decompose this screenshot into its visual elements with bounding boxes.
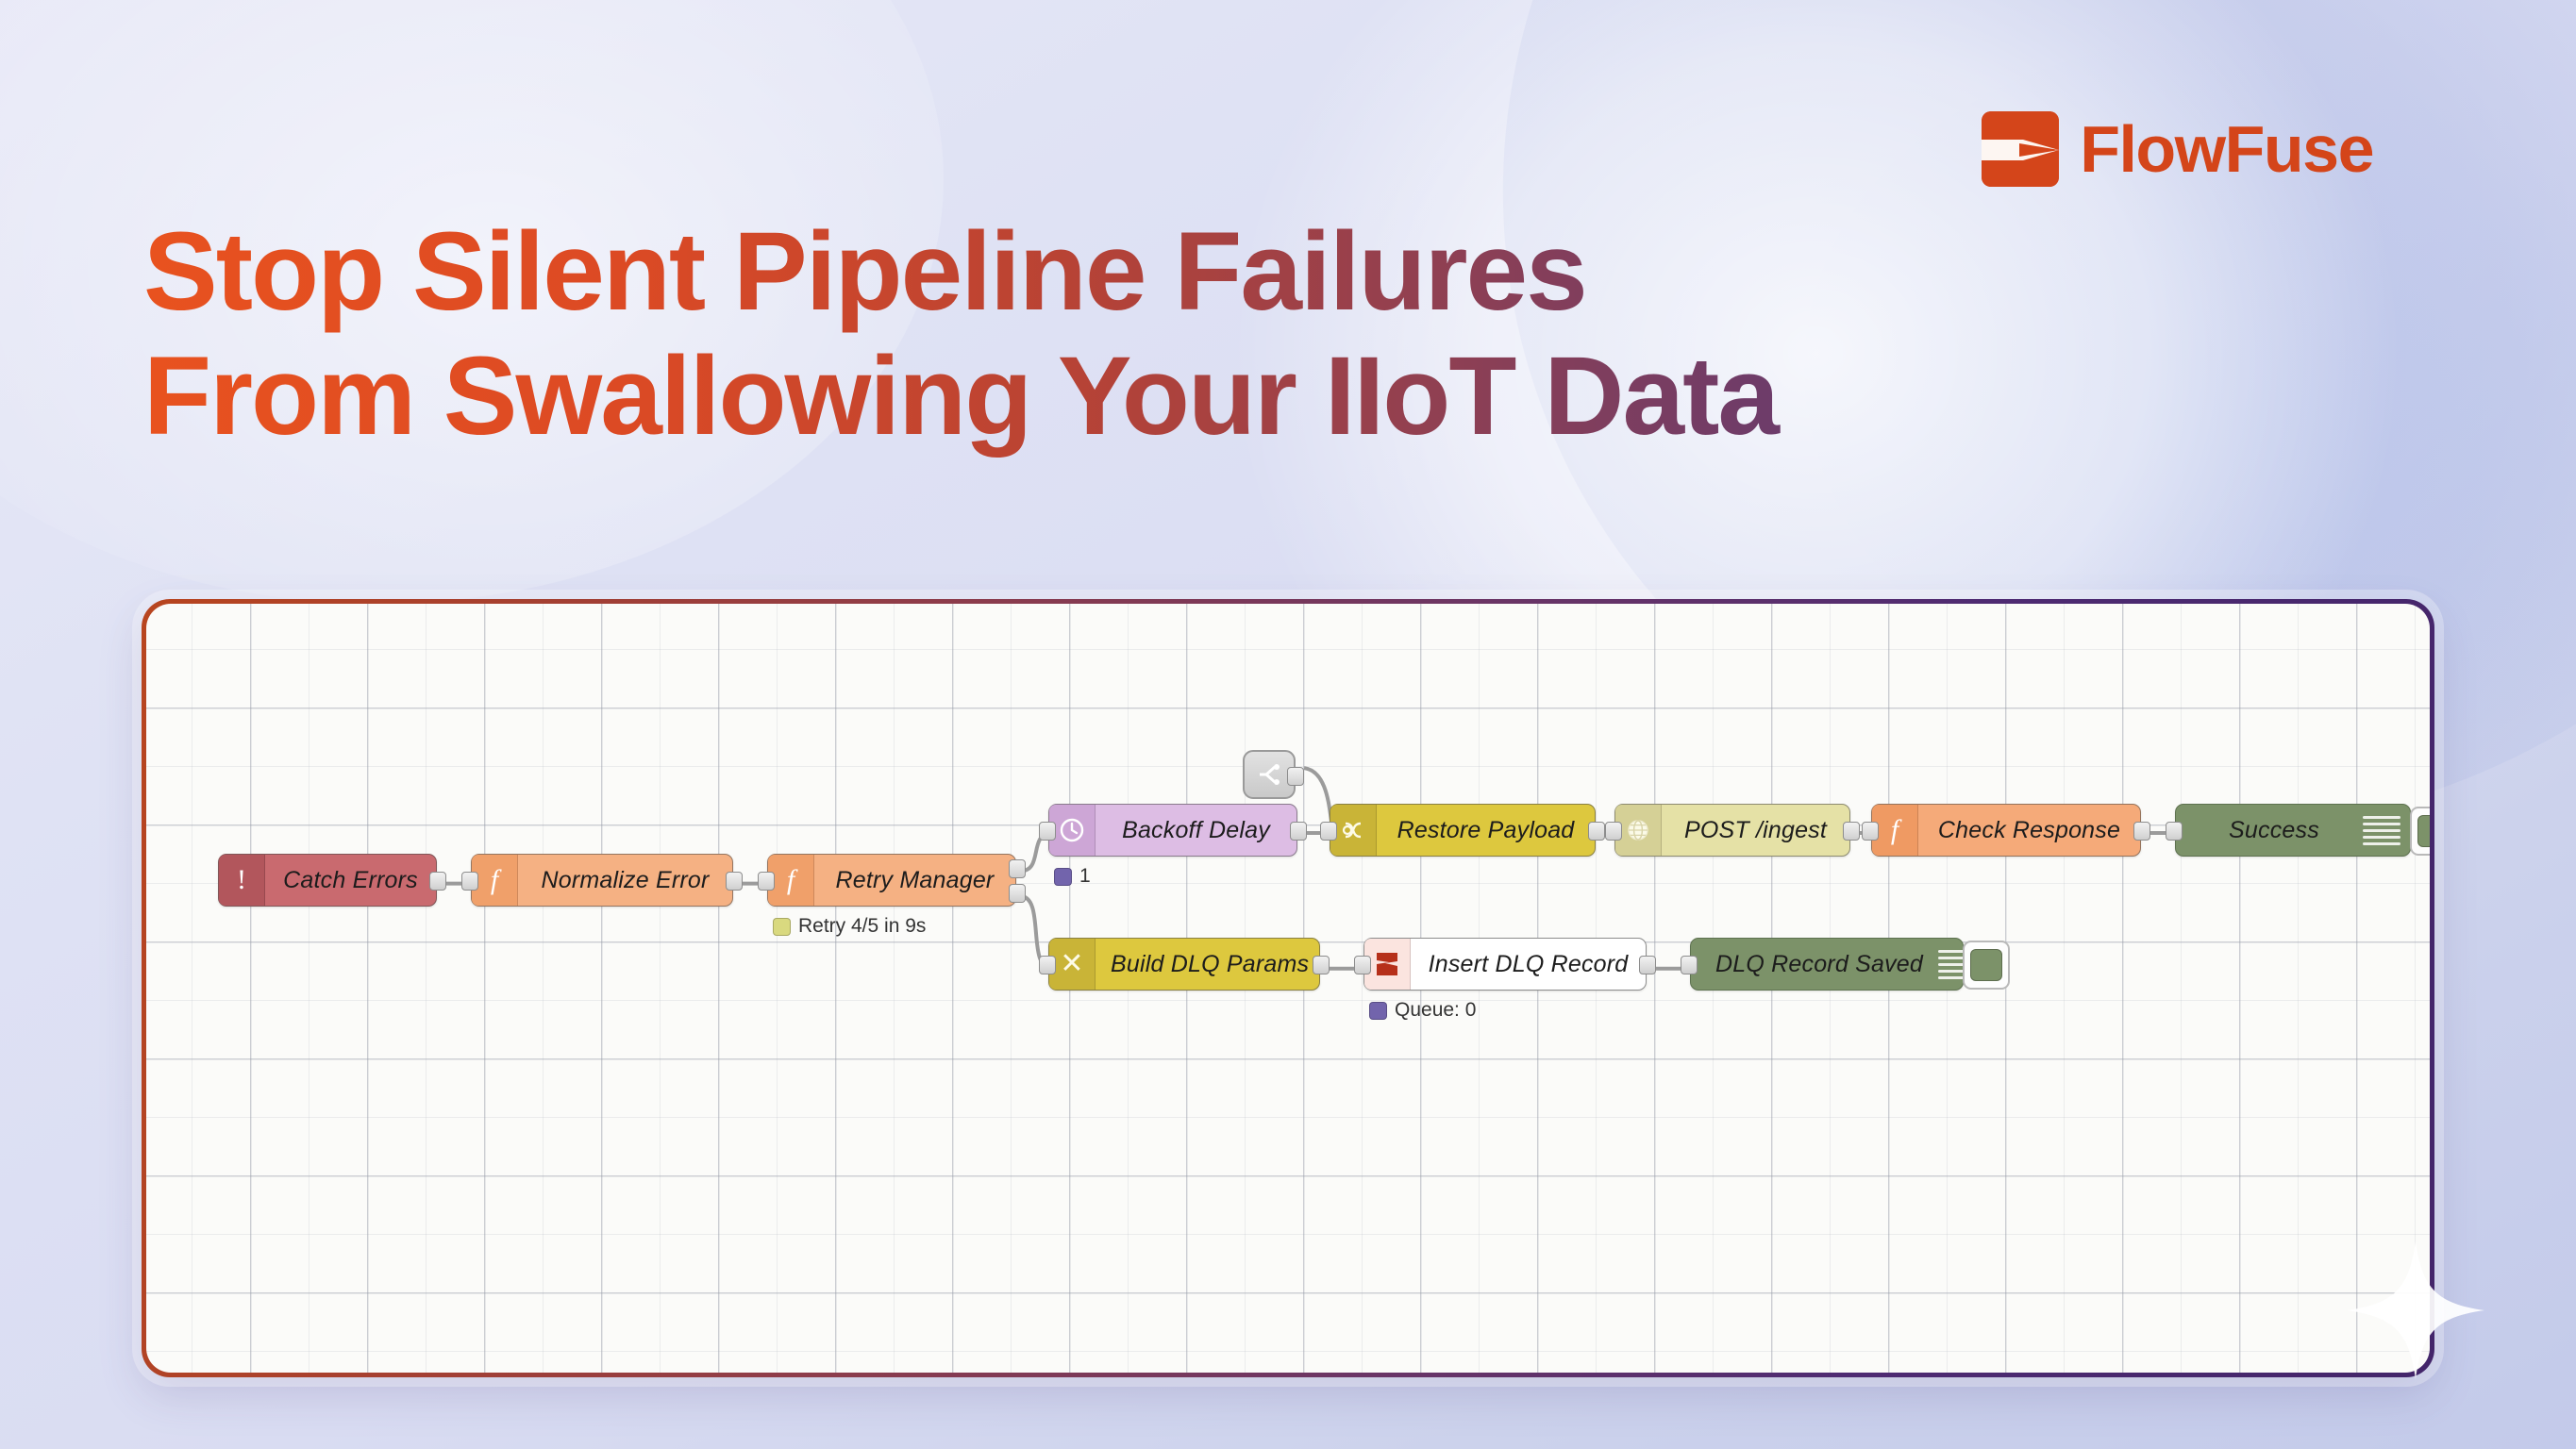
alert-icon: ! [219, 855, 265, 906]
flow-node-label: Build DLQ Params [1096, 939, 1324, 990]
port-in[interactable] [758, 872, 775, 891]
status-dot [773, 918, 791, 936]
flow-node-success-debug[interactable]: Success [2175, 804, 2411, 857]
node-status-backoff-delay: 1 [1054, 865, 1091, 888]
port-out[interactable] [1313, 956, 1330, 974]
node-status-retry-manager: Retry 4/5 in 9s [773, 915, 926, 938]
flow-node-retry-manager[interactable]: f Retry Manager [767, 854, 1016, 907]
flow-node-label: POST /ingest [1662, 805, 1849, 856]
change-icon: ✕ [1049, 939, 1096, 990]
flow-canvas[interactable]: ! Catch Errors f Normalize Error f Retry [146, 604, 2430, 1373]
poster-stage: FlowFuse Stop Silent Pipeline Failures F… [0, 0, 2576, 1449]
port-out[interactable] [726, 872, 743, 891]
port-out-2[interactable] [1009, 884, 1026, 903]
status-text: Queue: 0 [1395, 999, 1476, 1022]
port-in[interactable] [1039, 956, 1056, 974]
globe-icon [1615, 805, 1662, 856]
flow-node-label: Check Response [1918, 805, 2140, 856]
port-out[interactable] [429, 872, 446, 891]
status-dot [1054, 868, 1072, 886]
flow-node-normalize-error[interactable]: f Normalize Error [471, 854, 733, 907]
port-out[interactable] [1588, 822, 1605, 841]
port-in[interactable] [1320, 822, 1337, 841]
flow-node-label: Insert DLQ Record [1411, 939, 1646, 990]
flow-editor-card: ! Catch Errors f Normalize Error f Retry [142, 599, 2434, 1377]
flow-node-build-dlq-params[interactable]: ✕ Build DLQ Params [1048, 938, 1320, 991]
page-title-line-2: From Swallowing Your IIoT Data [143, 334, 2314, 458]
flow-node-label: Catch Errors [265, 855, 436, 906]
flow-node-restore-payload[interactable]: Restore Payload [1330, 804, 1596, 857]
link-call-icon[interactable] [1243, 750, 1296, 799]
port-out[interactable] [1843, 822, 1860, 841]
port-in[interactable] [2166, 822, 2183, 841]
port-out[interactable] [2133, 822, 2150, 841]
debug-toggle-button[interactable] [2410, 807, 2430, 856]
flow-node-label: DLQ Record Saved [1691, 939, 1938, 990]
flow-node-label: Normalize Error [518, 855, 732, 906]
flow-node-post-ingest[interactable]: POST /ingest [1614, 804, 1850, 857]
brand-logo: FlowFuse [1982, 111, 2373, 187]
status-dot [1369, 1002, 1387, 1020]
status-text: Retry 4/5 in 9s [798, 915, 926, 938]
node-status-insert-dlq-record: Queue: 0 [1369, 999, 1476, 1022]
function-icon: f [768, 855, 814, 906]
status-text: 1 [1079, 865, 1091, 888]
debug-toggle-button[interactable] [1963, 941, 2010, 990]
port-out[interactable] [1287, 767, 1304, 786]
port-in[interactable] [1605, 822, 1622, 841]
function-icon: f [472, 855, 518, 906]
brand-name: FlowFuse [2080, 116, 2373, 182]
function-icon: f [1872, 805, 1918, 856]
flow-node-check-response[interactable]: f Check Response [1871, 804, 2141, 857]
port-in[interactable] [1862, 822, 1879, 841]
port-in[interactable] [1039, 822, 1056, 841]
flow-node-label: Retry Manager [814, 855, 1015, 906]
page-title-line-1: Stop Silent Pipeline Failures [143, 209, 2314, 334]
change-icon [1330, 805, 1377, 856]
flow-node-label: Restore Payload [1377, 805, 1595, 856]
port-out-1[interactable] [1009, 859, 1026, 878]
flow-node-insert-dlq-record[interactable]: Insert DLQ Record [1363, 938, 1647, 991]
port-in[interactable] [1354, 956, 1371, 974]
flowfuse-logo-icon [1982, 111, 2059, 187]
debug-icon [2363, 805, 2410, 856]
page-title: Stop Silent Pipeline Failures From Swall… [143, 209, 2314, 458]
port-in[interactable] [461, 872, 478, 891]
port-out[interactable] [1290, 822, 1307, 841]
flow-node-label: Success [2176, 805, 2363, 856]
flow-node-backoff-delay[interactable]: Backoff Delay [1048, 804, 1297, 857]
port-out[interactable] [1639, 956, 1656, 974]
flow-node-dlq-record-saved-debug[interactable]: DLQ Record Saved [1690, 938, 1964, 991]
flow-node-catch-errors[interactable]: ! Catch Errors [218, 854, 437, 907]
clock-icon [1049, 805, 1096, 856]
flowfuse-node-icon [1364, 939, 1411, 990]
flow-node-label: Backoff Delay [1096, 805, 1296, 856]
port-in[interactable] [1681, 956, 1698, 974]
